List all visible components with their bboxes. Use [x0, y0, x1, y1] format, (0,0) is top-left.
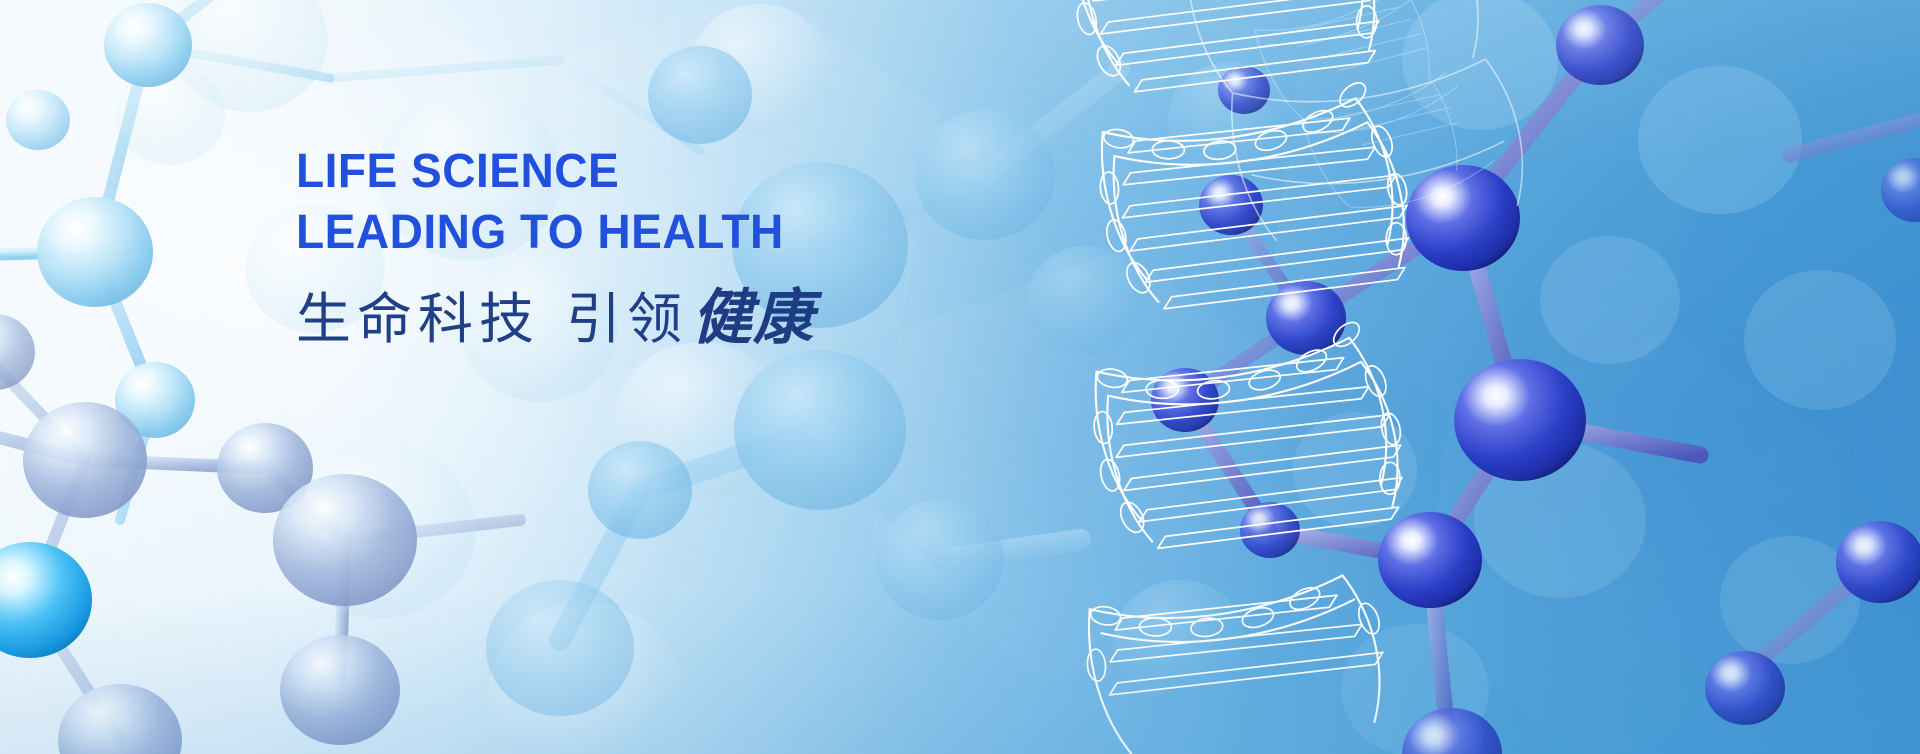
background-vignette	[0, 0, 1920, 754]
life-science-banner: LIFE SCIENCE LEADING TO HEALTH 生命科技引领健康	[0, 0, 1920, 754]
subheadline: 生命科技引领健康	[296, 285, 1056, 352]
headline-block: LIFE SCIENCE LEADING TO HEALTH 生命科技引领健康	[296, 142, 1056, 352]
subheadline-part-2: 引领	[566, 287, 688, 351]
subheadline-part-3-calligraphy: 健康	[692, 283, 814, 353]
headline-line-2: LEADING TO HEALTH	[296, 203, 1026, 263]
subheadline-part-1: 生命科技	[296, 287, 540, 351]
headline-line-1: LIFE SCIENCE	[296, 142, 1026, 202]
